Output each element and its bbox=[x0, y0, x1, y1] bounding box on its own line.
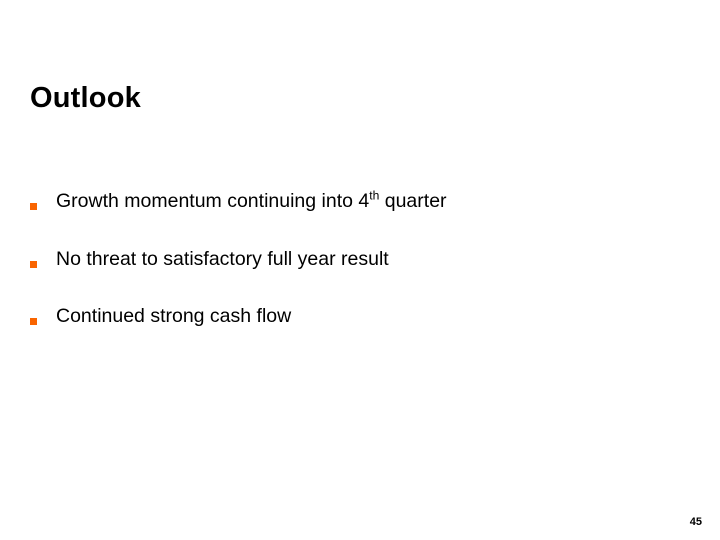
list-item-text-after: quarter bbox=[379, 190, 446, 212]
slide-canvas: Outlook Growth momentum continuing into … bbox=[0, 0, 720, 540]
page-title: Outlook bbox=[30, 82, 141, 115]
square-bullet-icon bbox=[30, 261, 37, 268]
list-item-text-before: Growth momentum continuing into 4 bbox=[56, 190, 369, 212]
list-item-label: Continued strong cash flow bbox=[56, 307, 291, 327]
bullet-list: Growth momentum continuing into 4th quar… bbox=[30, 192, 680, 365]
square-bullet-icon bbox=[30, 318, 37, 325]
square-bullet-icon bbox=[30, 203, 37, 210]
list-item-text-before: Continued strong cash flow bbox=[56, 305, 291, 327]
list-item-text-before: No threat to satisfactory full year resu… bbox=[56, 248, 389, 270]
list-item: Growth momentum continuing into 4th quar… bbox=[30, 192, 680, 250]
list-item-label: No threat to satisfactory full year resu… bbox=[56, 250, 389, 270]
list-item-label: Growth momentum continuing into 4th quar… bbox=[56, 192, 447, 212]
list-item: Continued strong cash flow bbox=[30, 307, 680, 365]
page-number: 45 bbox=[690, 516, 702, 528]
list-item-superscript: th bbox=[369, 189, 379, 203]
list-item: No threat to satisfactory full year resu… bbox=[30, 250, 680, 308]
